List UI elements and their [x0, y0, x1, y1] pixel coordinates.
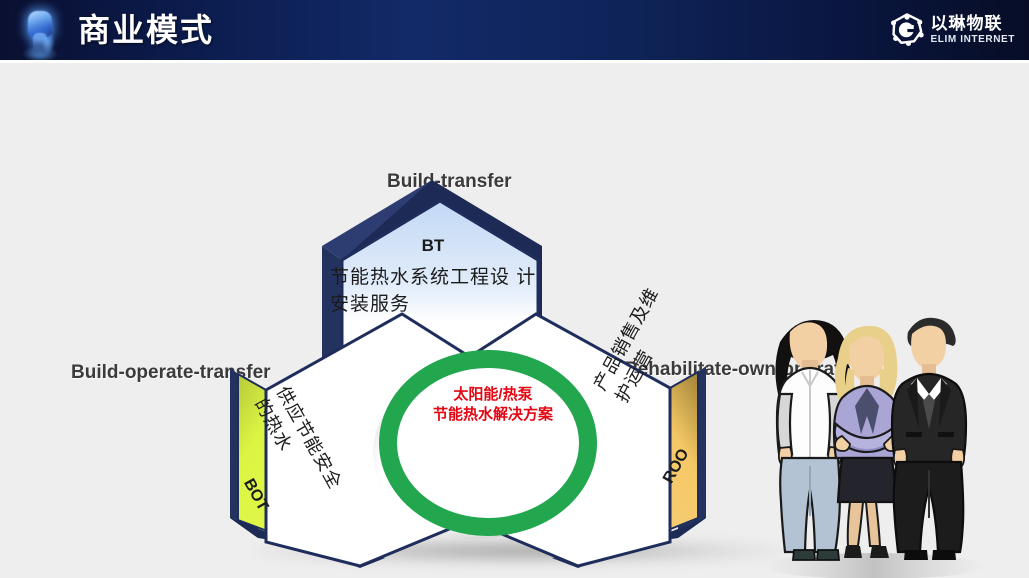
- center-ring: [388, 359, 588, 527]
- slide-header: 商业模式 以琳物联 ELIM INTERNET: [0, 0, 1029, 60]
- business-model-diagram: BT 节能热水系统工程设 计 安装服务 供应节能安全 的热水 BOT 产品销售及…: [200, 138, 760, 568]
- logo-name-en: ELIM INTERNET: [931, 35, 1015, 45]
- person-man-dark-suit: [892, 318, 966, 560]
- person-woman-lavender-jacket: [834, 326, 900, 558]
- three-business-people-illustration: [762, 298, 992, 578]
- segment-bt-tag: BT: [348, 236, 518, 256]
- segment-bt-body: 节能热水系统工程设 计 安装服务: [330, 264, 545, 318]
- slide-body: Build-transfer Build-operate-transfer Re…: [0, 63, 1029, 578]
- elim-g-mark-icon: [890, 13, 924, 47]
- glowing-fist-icon: [8, 0, 72, 60]
- brand-logo: 以琳物联 ELIM INTERNET: [890, 8, 1015, 52]
- slide-canvas: 商业模式 以琳物联 ELIM INTERNET Build-transfer B: [0, 0, 1029, 578]
- page-title: 商业模式: [78, 8, 214, 52]
- logo-name-cn: 以琳物联: [931, 15, 1015, 32]
